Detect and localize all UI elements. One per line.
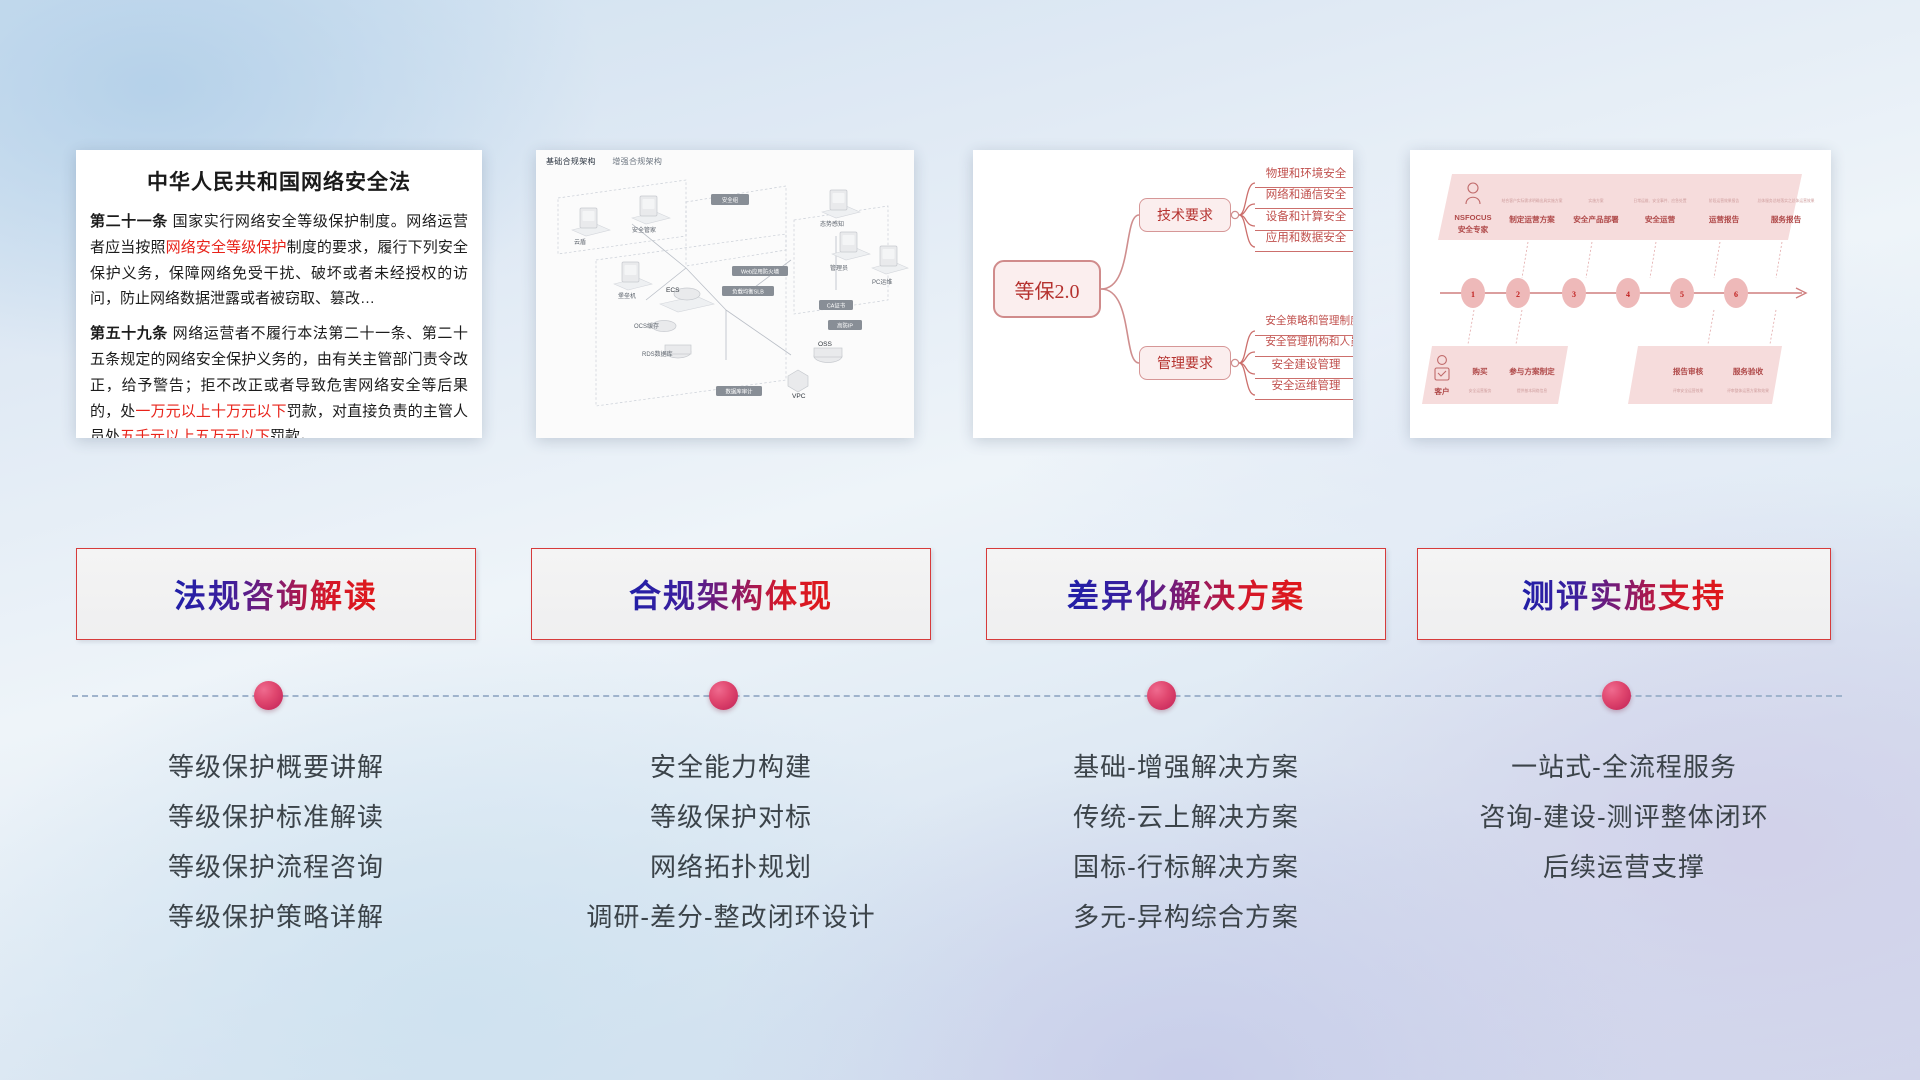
- detail-list-3: 基础-增强解决方案 传统-云上解决方案 国标-行标解决方案 多元-异构综合方案: [986, 742, 1386, 942]
- svg-text:OCS缓存: OCS缓存: [634, 322, 659, 330]
- architecture-node-security-group: 安全组: [711, 194, 749, 205]
- law-article-21-label: 第二十一条: [90, 213, 168, 230]
- timeline-knob-3[interactable]: [1147, 681, 1176, 710]
- svg-text:1: 1: [1471, 290, 1475, 299]
- timeline-diagram: NSFOCUS 安全专家 客户 1 2 3 4 5: [1410, 150, 1831, 438]
- detail-list-4: 一站式-全流程服务 咨询-建设-测评整体闭环 后续运营支撑: [1417, 742, 1831, 892]
- list-item: 等级保护策略详解: [76, 892, 476, 942]
- svg-text:评审整体运营方案和效果: 评审整体运营方案和效果: [1727, 388, 1769, 393]
- svg-text:报告审核: 报告审核: [1673, 366, 1704, 376]
- svg-text:评审安全运营效果: 评审安全运营效果: [1673, 388, 1704, 393]
- headline-label-4: 测评实施支持: [1522, 571, 1726, 617]
- svg-text:CA证书: CA证书: [827, 301, 846, 309]
- svg-text:运营报告: 运营报告: [1709, 214, 1740, 224]
- list-item: 咨询-建设-测评整体闭环: [1417, 792, 1831, 842]
- list-item: 等级保护标准解读: [76, 792, 476, 842]
- mindmap-leaf-tech-4[interactable]: 应用和数据安全: [1255, 228, 1353, 252]
- list-item: 安全能力构建: [531, 742, 931, 792]
- timeline-step-3: 3: [1562, 278, 1586, 308]
- svg-text:服务报告: 服务报告: [1771, 214, 1802, 224]
- law-title: 中华人民共和国网络安全法: [76, 166, 482, 196]
- svg-text:PC运维: PC运维: [872, 278, 892, 286]
- architecture-node-ecs: ECS: [660, 287, 714, 312]
- headline-box-4[interactable]: 测评实施支持: [1417, 548, 1831, 640]
- architecture-node-ca-cert: CA证书: [819, 300, 853, 310]
- svg-text:安全管家: 安全管家: [632, 226, 656, 234]
- svg-text:态势感知: 态势感知: [820, 220, 844, 228]
- timeline-step-5: 5: [1670, 278, 1694, 308]
- architecture-node-anti-ddos-ip: 高防IP: [828, 320, 862, 330]
- svg-text:制定运营方案: 制定运营方案: [1509, 214, 1555, 224]
- architecture-node-db-audit: 数据库审计: [716, 386, 762, 396]
- svg-text:2: 2: [1516, 290, 1520, 299]
- svg-text:6: 6: [1734, 290, 1738, 299]
- svg-text:5: 5: [1680, 290, 1684, 299]
- law-article-59-post: 罚款。: [270, 428, 315, 438]
- svg-text:安全运营服务: 安全运营服务: [1469, 388, 1492, 393]
- architecture-node-situational-awareness: 态势感知: [820, 190, 860, 228]
- architecture-node-oss: OSS: [814, 341, 842, 363]
- architecture-node-ocs-cache: OCS缓存: [634, 321, 676, 332]
- list-item: 调研-差分-整改闭环设计: [531, 892, 931, 942]
- svg-text:提供基本网络信息: 提供基本网络信息: [1517, 388, 1548, 393]
- headline-label-1: 法规咨询解读: [174, 571, 378, 617]
- svg-text:RDS数据库: RDS数据库: [642, 350, 673, 358]
- svg-text:ECS: ECS: [666, 287, 680, 294]
- timeline-knob-4[interactable]: [1602, 681, 1631, 710]
- architecture-node-bastion-host: 堡垒机: [614, 262, 652, 300]
- card-cybersecurity-law[interactable]: 中华人民共和国网络安全法 第二十一条 国家实行网络安全等级保护制度。网络运营者应…: [76, 150, 482, 438]
- card-cloud-architecture[interactable]: 基础合规架构 增强合规架构 安全组: [536, 150, 914, 438]
- architecture-node-security-butler: 安全管家: [632, 196, 670, 234]
- svg-text:4: 4: [1626, 290, 1630, 299]
- list-item: 一站式-全流程服务: [1417, 742, 1831, 792]
- detail-list-2: 安全能力构建 等级保护对标 网络拓扑规划 调研-差分-整改闭环设计: [531, 742, 931, 942]
- list-item: 基础-增强解决方案: [986, 742, 1386, 792]
- svg-text:VPC: VPC: [792, 393, 806, 400]
- list-item: 等级保护概要讲解: [76, 742, 476, 792]
- timeline-step-1: 1: [1461, 278, 1485, 308]
- svg-text:实施方案: 实施方案: [1588, 198, 1603, 203]
- svg-text:云盾: 云盾: [574, 239, 586, 246]
- timeline-top-band: [1438, 174, 1802, 240]
- list-item: 多元-异构综合方案: [986, 892, 1386, 942]
- law-body: 第二十一条 国家实行网络安全等级保护制度。网络运营者应当按照网络安全等级保护制度…: [76, 209, 482, 438]
- svg-text:客户: 客户: [1434, 386, 1449, 396]
- architecture-node-slb: 负载均衡SLB: [722, 286, 774, 296]
- headline-row: 法规咨询解读 合规架构体现 差异化解决方案 测评实施支持: [0, 548, 1920, 640]
- svg-text:购买: 购买: [1472, 366, 1488, 376]
- mindmap-branch-management[interactable]: 管理要求: [1139, 346, 1231, 380]
- svg-text:结合客户实际需求明确出具实施方案: 结合客户实际需求明确出具实施方案: [1502, 198, 1563, 203]
- detail-lists-row: 等级保护概要讲解 等级保护标准解读 等级保护流程咨询 等级保护策略详解 安全能力…: [0, 742, 1920, 962]
- architecture-diagram: 安全组 云盾 安全管家 态势感知: [536, 150, 914, 438]
- svg-text:Web应用防火墙: Web应用防火墙: [741, 267, 780, 275]
- law-article-59: 第五十九条 网络运营者不履行本法第二十一条、第二十五条规定的网络安全保护义务的，…: [90, 321, 468, 438]
- headline-label-3: 差异化解决方案: [1067, 571, 1305, 617]
- list-item: 后续运营支撑: [1417, 842, 1831, 892]
- mindmap-leaf-tech-2[interactable]: 网络和通信安全: [1255, 185, 1353, 209]
- list-item: 国标-行标解决方案: [986, 842, 1386, 892]
- headline-box-1[interactable]: 法规咨询解读: [76, 548, 476, 640]
- mindmap-root-node[interactable]: 等保2.0: [993, 260, 1101, 318]
- architecture-node-cloud-shield: 云盾: [572, 208, 610, 246]
- svg-text:OSS: OSS: [818, 341, 833, 348]
- architecture-node-pc-ops: PC运维: [872, 246, 908, 286]
- svg-text:3: 3: [1572, 290, 1576, 299]
- svg-text:高防IP: 高防IP: [837, 321, 853, 329]
- detail-list-1: 等级保护概要讲解 等级保护标准解读 等级保护流程咨询 等级保护策略详解: [76, 742, 476, 942]
- svg-text:负载均衡SLB: 负载均衡SLB: [732, 287, 764, 295]
- svg-text:参与方案制定: 参与方案制定: [1508, 366, 1555, 376]
- list-item: 网络拓扑规划: [531, 842, 931, 892]
- headline-box-3[interactable]: 差异化解决方案: [986, 548, 1386, 640]
- svg-text:管理员: 管理员: [830, 264, 848, 272]
- timeline-knob-2[interactable]: [709, 681, 738, 710]
- svg-text:总体服务总结落实之总体运营效果: 总体服务总结落实之总体运营效果: [1758, 198, 1815, 203]
- reference-cards-row: 中华人民共和国网络安全法 第二十一条 国家实行网络安全等级保护制度。网络运营者应…: [0, 150, 1920, 440]
- timeline-step-6: 6: [1724, 278, 1748, 308]
- svg-text:安全产品部署: 安全产品部署: [1573, 214, 1619, 224]
- svg-text:堡垒机: 堡垒机: [618, 292, 636, 300]
- card-mindmap-dengbao[interactable]: 等保2.0 技术要求 管理要求 物理和环境安全 网络和通信安全 设备和计算安全 …: [973, 150, 1353, 438]
- law-article-59-highlight-1: 一万元以上十万元以下: [135, 403, 286, 420]
- law-article-59-highlight-2: 五千元以上五万元以下: [120, 428, 270, 438]
- law-article-59-label: 第五十九条: [90, 325, 168, 342]
- svg-text:安全运营: 安全运营: [1645, 214, 1676, 224]
- list-item: 等级保护流程咨询: [76, 842, 476, 892]
- list-item: 等级保护对标: [531, 792, 931, 842]
- headline-box-2[interactable]: 合规架构体现: [531, 548, 931, 640]
- svg-text:数据库审计: 数据库审计: [726, 387, 754, 395]
- architecture-node-waf: Web应用防火墙: [732, 266, 788, 276]
- svg-text:安全组: 安全组: [722, 196, 739, 204]
- mindmap-branch-technical[interactable]: 技术要求: [1139, 198, 1231, 232]
- svg-text:安全专家: 安全专家: [1458, 224, 1489, 234]
- svg-text:日常运维、安全事件、应急处置: 日常运维、安全事件、应急处置: [1633, 198, 1686, 203]
- svg-text:NSFOCUS: NSFOCUS: [1454, 213, 1491, 222]
- headline-label-2: 合规架构体现: [629, 571, 833, 617]
- law-article-21-highlight: 网络安全等级保护: [166, 239, 287, 256]
- timeline-dashed-rule: [72, 695, 1842, 697]
- mindmap-leaf-mgmt-4[interactable]: 安全运维管理: [1255, 376, 1353, 400]
- svg-text:阶段运营效果报告: 阶段运营效果报告: [1709, 198, 1740, 203]
- timeline-step-4: 4: [1616, 278, 1640, 308]
- card-service-timeline[interactable]: NSFOCUS 安全专家 客户 1 2 3 4 5: [1410, 150, 1831, 438]
- svg-text:服务验收: 服务验收: [1733, 366, 1764, 376]
- law-article-21: 第二十一条 国家实行网络安全等级保护制度。网络运营者应当按照网络安全等级保护制度…: [90, 209, 468, 312]
- timeline-knob-1[interactable]: [254, 681, 283, 710]
- timeline-step-2: 2: [1506, 278, 1530, 308]
- mindmap-leaf-mgmt-2[interactable]: 安全管理机构和人员: [1255, 333, 1353, 357]
- architecture-node-rds: RDS数据库: [642, 345, 691, 358]
- list-item: 传统-云上解决方案: [986, 792, 1386, 842]
- architecture-node-vpc: VPC: [788, 370, 808, 400]
